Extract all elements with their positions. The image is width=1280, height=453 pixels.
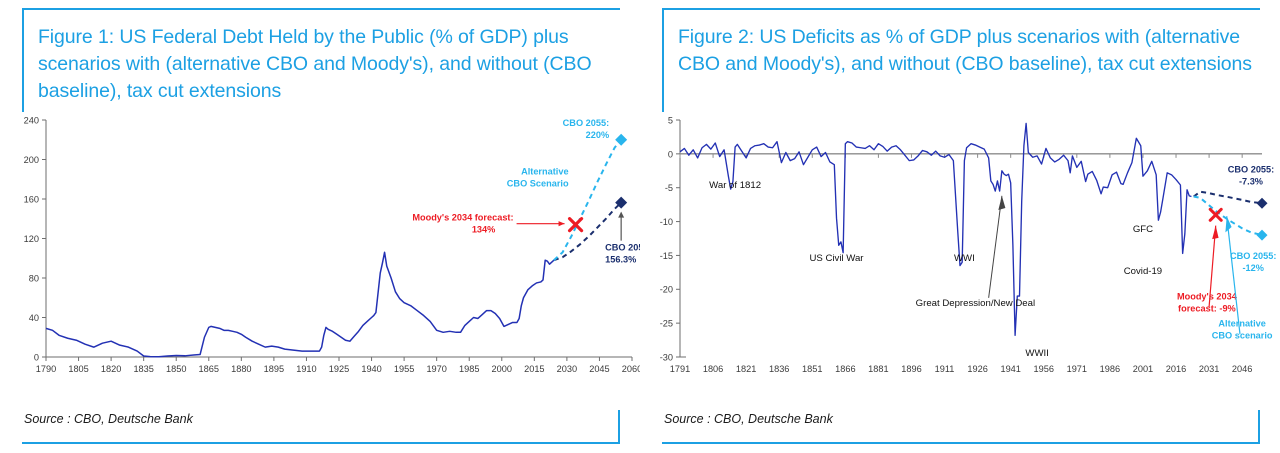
svg-text:1880: 1880 (231, 364, 251, 374)
figure-2-title: Figure 2: US Deficits as % of GDP plus s… (678, 24, 1260, 78)
svg-text:1910: 1910 (296, 364, 316, 374)
svg-text:-12%: -12% (1242, 263, 1263, 273)
svg-text:-5: -5 (665, 183, 673, 193)
svg-text:1986: 1986 (1100, 364, 1120, 374)
svg-text:2015: 2015 (524, 364, 544, 374)
svg-text:1895: 1895 (264, 364, 284, 374)
great-depression-label: Great Depression/New Deal (916, 298, 1035, 309)
svg-text:1955: 1955 (394, 364, 414, 374)
svg-text:220%: 220% (586, 130, 610, 140)
svg-text:1850: 1850 (166, 364, 186, 374)
us-civil-war-label: US Civil War (810, 253, 865, 264)
cbo-baseline-2055-label: CBO 2055: (1228, 164, 1274, 174)
figure-1-chart: 0408012016020024017901805182018351850186… (0, 112, 640, 402)
svg-text:forecast: -9%: forecast: -9% (1178, 303, 1236, 313)
svg-text:1835: 1835 (133, 364, 153, 374)
gfc-label: GFC (1133, 224, 1153, 235)
figure-1-svg: 0408012016020024017901805182018351850186… (0, 112, 640, 402)
svg-text:2046: 2046 (1232, 364, 1252, 374)
svg-text:-15: -15 (660, 251, 673, 261)
svg-text:1865: 1865 (199, 364, 219, 374)
svg-text:240: 240 (24, 115, 39, 125)
svg-text:1940: 1940 (361, 364, 381, 374)
figure-2-source-block: Source : CBO, Deutsche Bank (662, 410, 1260, 444)
svg-text:1805: 1805 (68, 364, 88, 374)
svg-text:-7.3%: -7.3% (1239, 176, 1263, 186)
war-of-1812-label: War of 1812 (709, 180, 761, 191)
svg-text:1941: 1941 (1000, 364, 1020, 374)
svg-text:200: 200 (24, 155, 39, 165)
svg-text:1820: 1820 (101, 364, 121, 374)
svg-text:0: 0 (34, 352, 39, 362)
svg-text:2000: 2000 (492, 364, 512, 374)
svg-text:1791: 1791 (670, 364, 690, 374)
svg-text:1881: 1881 (868, 364, 888, 374)
svg-text:1956: 1956 (1034, 364, 1054, 374)
svg-text:CBO Scenario: CBO Scenario (507, 178, 569, 188)
figure-1-title-block: Figure 1: US Federal Debt Held by the Pu… (22, 8, 620, 112)
svg-text:-10: -10 (660, 217, 673, 227)
cbo-alt-2055-label: CBO 2055: (563, 118, 609, 128)
svg-text:1790: 1790 (36, 364, 56, 374)
svg-text:1851: 1851 (802, 364, 822, 374)
svg-text:2060: 2060 (622, 364, 640, 374)
svg-text:1970: 1970 (426, 364, 446, 374)
figure-1-panel: Figure 1: US Federal Debt Held by the Pu… (0, 0, 640, 453)
figure-2-chart: 50-5-10-15-20-25-30179118061821183618511… (640, 112, 1280, 402)
cbo-alt-2055-label: CBO 2055: (1230, 251, 1276, 261)
svg-text:2031: 2031 (1199, 364, 1219, 374)
alt-scenario-label: Alternative (1218, 319, 1266, 329)
svg-text:1896: 1896 (901, 364, 921, 374)
svg-text:-20: -20 (660, 285, 673, 295)
figure-1-title: Figure 1: US Federal Debt Held by the Pu… (38, 24, 620, 105)
svg-text:1985: 1985 (459, 364, 479, 374)
figure-2-panel: Figure 2: US Deficits as % of GDP plus s… (640, 0, 1280, 453)
figures-page: Figure 1: US Federal Debt Held by the Pu… (0, 0, 1280, 453)
figure-1-source: Source : CBO, Deutsche Bank (22, 410, 618, 432)
figure-2-svg: 50-5-10-15-20-25-30179118061821183618511… (640, 112, 1280, 402)
svg-text:1821: 1821 (736, 364, 756, 374)
svg-text:1911: 1911 (935, 364, 955, 374)
svg-text:2045: 2045 (589, 364, 609, 374)
svg-text:CBO scenario: CBO scenario (1212, 331, 1273, 341)
svg-text:2030: 2030 (557, 364, 577, 374)
svg-text:2001: 2001 (1133, 364, 1153, 374)
svg-text:40: 40 (29, 313, 39, 323)
svg-text:1925: 1925 (329, 364, 349, 374)
svg-text:5: 5 (668, 115, 673, 125)
covid-19-label: Covid-19 (1124, 266, 1162, 277)
moodys-forecast-label: Moody's 2034 (1177, 291, 1238, 301)
svg-text:1806: 1806 (703, 364, 723, 374)
svg-text:134%: 134% (472, 225, 496, 235)
figure-2-title-block: Figure 2: US Deficits as % of GDP plus s… (662, 8, 1260, 112)
svg-text:1866: 1866 (835, 364, 855, 374)
svg-text:80: 80 (29, 273, 39, 283)
svg-text:160: 160 (24, 194, 39, 204)
svg-text:1836: 1836 (769, 364, 789, 374)
svg-text:2016: 2016 (1166, 364, 1186, 374)
cbo-baseline-2055-label: CBO 2055: (605, 243, 640, 253)
svg-text:1971: 1971 (1067, 364, 1087, 374)
alt-scenario-label: Alternative (521, 166, 569, 176)
svg-text:-30: -30 (660, 352, 673, 362)
svg-text:1926: 1926 (967, 364, 987, 374)
moodys-forecast-label: Moody's 2034 forecast: (412, 213, 513, 223)
svg-text:0: 0 (668, 149, 673, 159)
wwi-label: WWI (954, 253, 975, 264)
wwii-label: WWII (1025, 348, 1048, 359)
figure-1-source-block: Source : CBO, Deutsche Bank (22, 410, 620, 444)
svg-text:-25: -25 (660, 319, 673, 329)
svg-text:120: 120 (24, 234, 39, 244)
svg-text:156.3%: 156.3% (605, 255, 636, 265)
figure-2-source: Source : CBO, Deutsche Bank (662, 410, 1258, 432)
